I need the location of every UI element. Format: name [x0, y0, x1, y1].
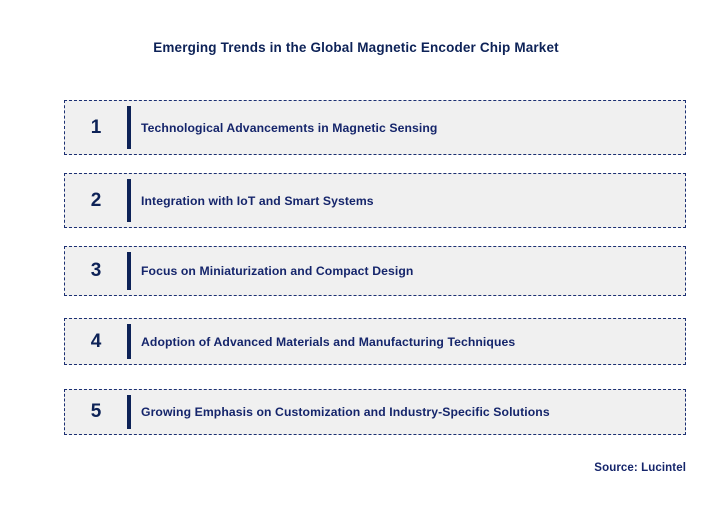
trend-number: 3 [65, 261, 127, 281]
trend-number: 1 [65, 118, 127, 138]
trend-label: Integration with IoT and Smart Systems [131, 194, 685, 208]
trend-row[interactable]: 2 Integration with IoT and Smart Systems [64, 173, 686, 228]
trend-label: Technological Advancements in Magnetic S… [131, 121, 685, 135]
trend-list: 1 Technological Advancements in Magnetic… [64, 100, 686, 435]
trend-row[interactable]: 1 Technological Advancements in Magnetic… [64, 100, 686, 155]
infographic-canvas: Emerging Trends in the Global Magnetic E… [0, 0, 712, 521]
trend-number: 2 [65, 191, 127, 211]
trend-label: Focus on Miniaturization and Compact Des… [131, 264, 685, 278]
source-note: Source: Lucintel [594, 462, 686, 474]
trend-row[interactable]: 5 Growing Emphasis on Customization and … [64, 389, 686, 435]
trend-label: Growing Emphasis on Customization and In… [131, 405, 685, 419]
trend-number: 5 [65, 402, 127, 422]
page-title: Emerging Trends in the Global Magnetic E… [0, 40, 712, 55]
trend-number: 4 [65, 332, 127, 352]
trend-row[interactable]: 4 Adoption of Advanced Materials and Man… [64, 318, 686, 365]
trend-label: Adoption of Advanced Materials and Manuf… [131, 335, 685, 349]
trend-row[interactable]: 3 Focus on Miniaturization and Compact D… [64, 246, 686, 296]
